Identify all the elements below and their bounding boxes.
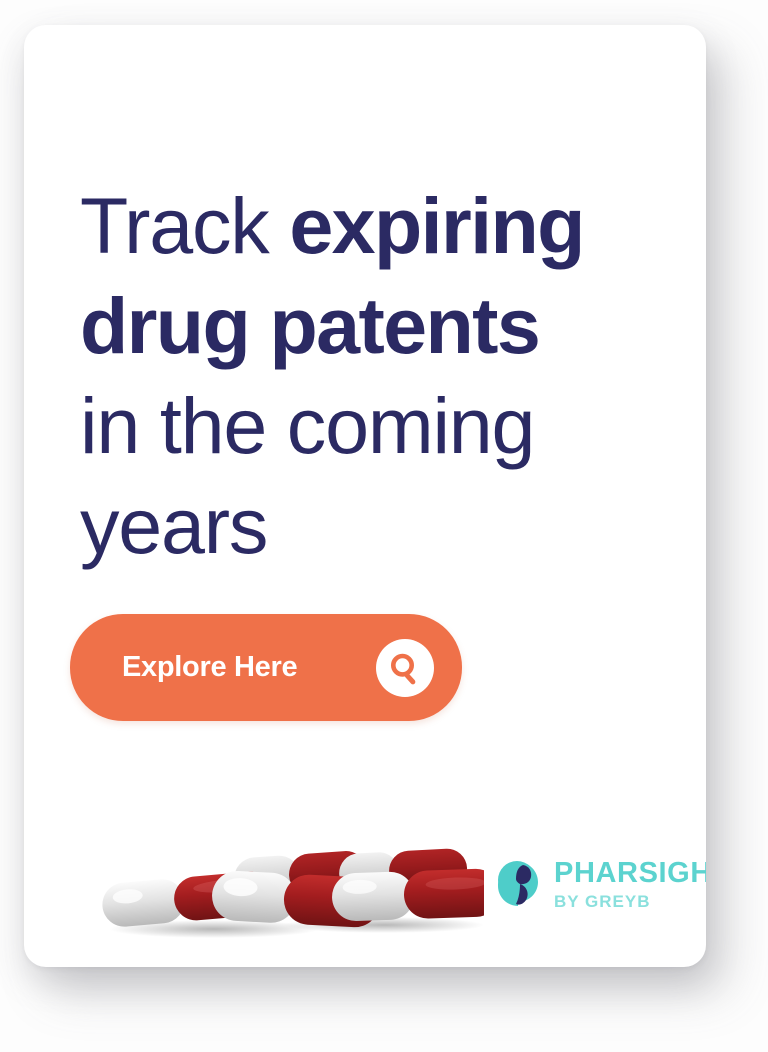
brand-name: PHARSIGHT: [554, 859, 706, 888]
headline-line-1-bold: expiring: [289, 181, 583, 270]
cta-button-label: Explore Here: [122, 651, 297, 684]
headline-line-3: in the coming: [80, 376, 670, 476]
headline-line-1-normal: Track: [80, 181, 289, 270]
pills-photo: [84, 825, 484, 945]
headline: Track expiring drug patents in the comin…: [80, 176, 670, 576]
headline-line-2-bold: drug patents: [80, 281, 539, 370]
headline-line-1: Track expiring: [80, 176, 670, 276]
pharsight-logo-mark-icon: [492, 858, 544, 910]
brand-logo: PHARSIGHT BY GREYB: [492, 847, 692, 921]
headline-line-2: drug patents: [80, 276, 670, 376]
explore-here-button[interactable]: Explore Here: [70, 614, 462, 721]
ad-banner: Track expiring drug patents in the comin…: [0, 0, 768, 1052]
search-icon: [376, 639, 434, 697]
headline-line-4: years: [80, 476, 670, 576]
logo-wordmark: PHARSIGHT BY GREYB: [554, 859, 706, 910]
brand-tagline: BY GREYB: [554, 893, 706, 910]
ad-card: Track expiring drug patents in the comin…: [24, 25, 706, 967]
